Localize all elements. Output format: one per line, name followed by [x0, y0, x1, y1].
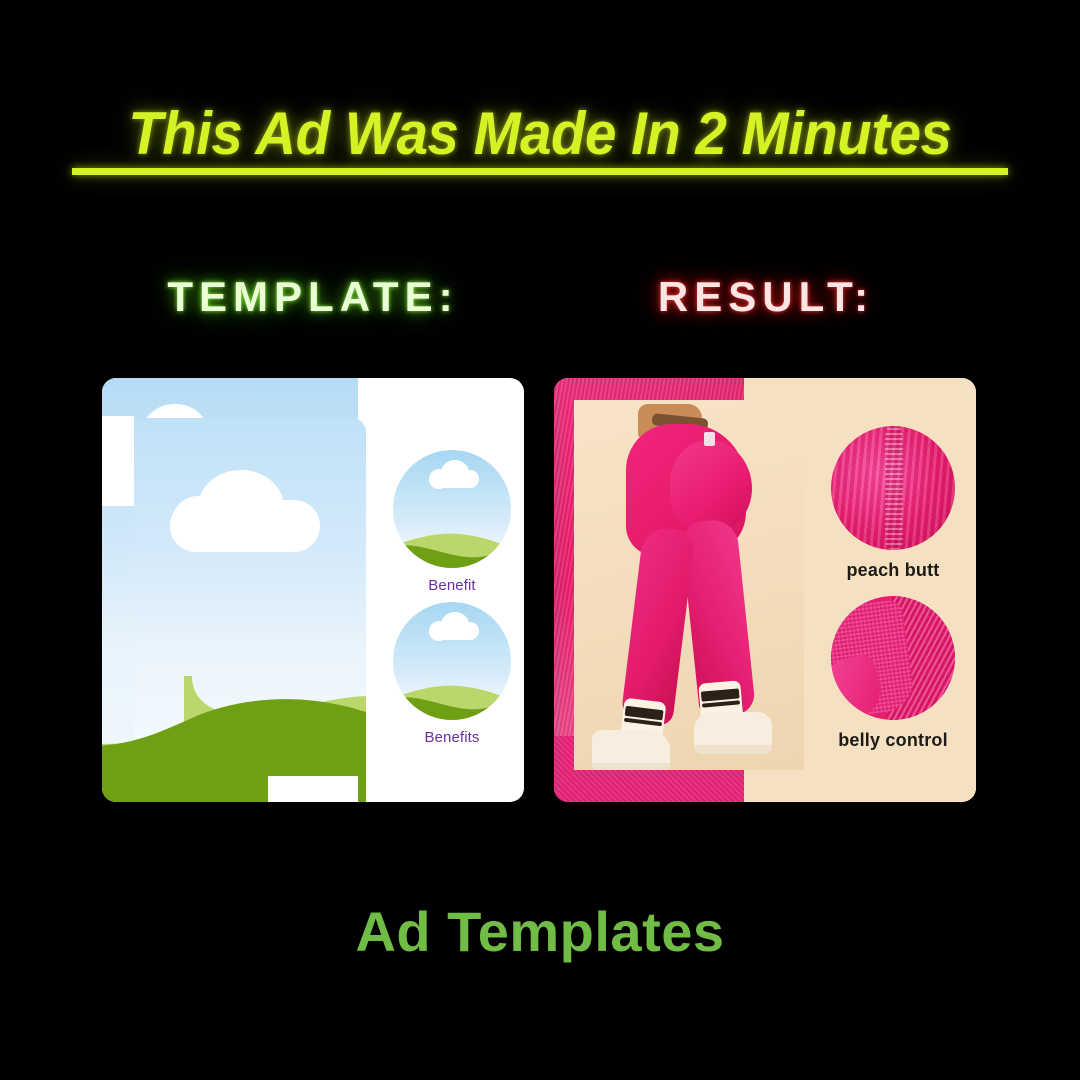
- sneaker-right: [694, 712, 772, 754]
- sock-stripe: [701, 688, 740, 701]
- thumbnail-label: Benefit: [390, 577, 514, 594]
- sock-stripe: [702, 700, 740, 707]
- column-label-result: RESULT:: [554, 276, 978, 318]
- headline-block: This Ad Was Made In 2 Minutes: [0, 104, 1080, 164]
- detail-label: belly control: [826, 730, 960, 751]
- brand-logo-tag: [704, 432, 715, 446]
- sneaker-sole: [592, 763, 670, 770]
- template-card[interactable]: Benefit Benefits: [102, 378, 524, 802]
- product-photo: [574, 400, 804, 770]
- column-label-template: TEMPLATE:: [102, 276, 524, 318]
- sneaker-left: [592, 730, 670, 770]
- result-detail-1[interactable]: peach butt: [826, 426, 960, 581]
- thumbnail-circle-image: [393, 602, 511, 720]
- ad-canvas: This Ad Was Made In 2 Minutes TEMPLATE: …: [0, 0, 1080, 1080]
- thumbnail-label: Benefits: [390, 729, 514, 746]
- detail-circle-image: [831, 426, 955, 550]
- leggings-glute: [670, 440, 752, 532]
- template-notch-top-left: [102, 416, 134, 506]
- template-hero-photo: [102, 378, 358, 802]
- template-thumbnail-1[interactable]: Benefit: [390, 450, 514, 594]
- cloud-icon-large-lobe-right: [270, 502, 318, 550]
- leggings-leg-front: [620, 526, 695, 727]
- footer-brand-text: Ad Templates: [0, 904, 1080, 960]
- detail-label: peach butt: [826, 560, 960, 581]
- cloud-icon-lobe-right: [461, 470, 479, 488]
- result-card[interactable]: peach butt belly control: [554, 378, 976, 802]
- template-thumbnail-2[interactable]: Benefits: [390, 602, 514, 746]
- sneaker-sole: [694, 745, 772, 754]
- headline-underline: [72, 168, 1008, 175]
- page-title: This Ad Was Made In 2 Minutes: [128, 104, 951, 164]
- template-notch-bottom: [268, 776, 358, 802]
- thumbnail-circle-image: [393, 450, 511, 568]
- cloud-icon-lobe-right: [461, 622, 479, 640]
- result-detail-2[interactable]: belly control: [826, 596, 960, 751]
- detail-circle-image: [831, 596, 955, 720]
- fabric-seam-texture: [885, 426, 903, 550]
